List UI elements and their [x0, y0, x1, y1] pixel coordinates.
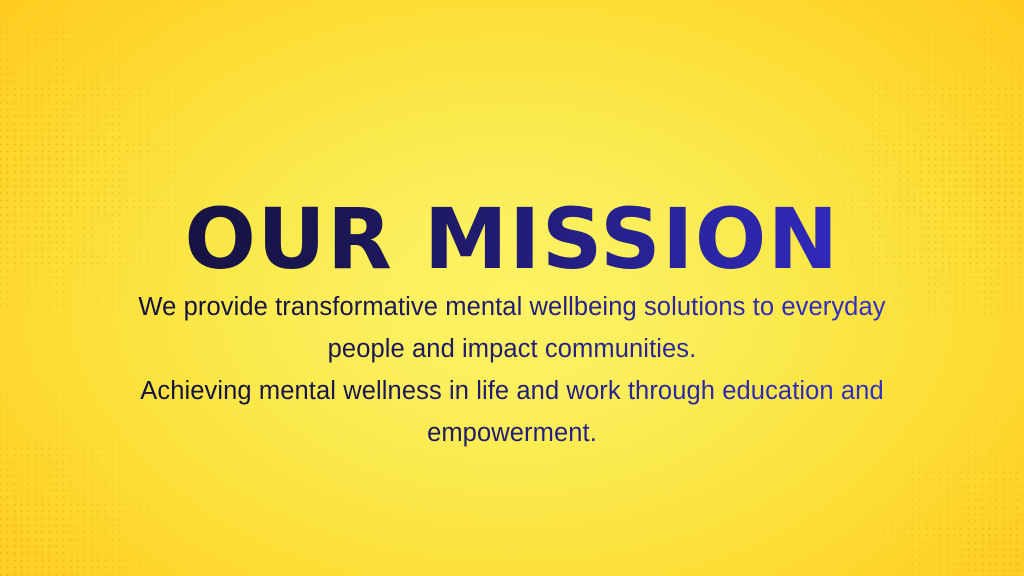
mission-statement: We provide transformative mental wellbei… — [94, 286, 930, 454]
slide-title: OUR MISSION — [0, 197, 1024, 281]
mission-line: Achieving mental wellness in life and wo… — [94, 370, 930, 412]
mission-line: people and impact communities. — [94, 328, 930, 370]
mission-line: empowerment. — [94, 412, 930, 454]
mission-slide: OUR MISSION We provide transformative me… — [0, 0, 1024, 576]
mission-line: We provide transformative mental wellbei… — [94, 286, 930, 328]
slide-content: OUR MISSION We provide transformative me… — [0, 0, 1024, 576]
